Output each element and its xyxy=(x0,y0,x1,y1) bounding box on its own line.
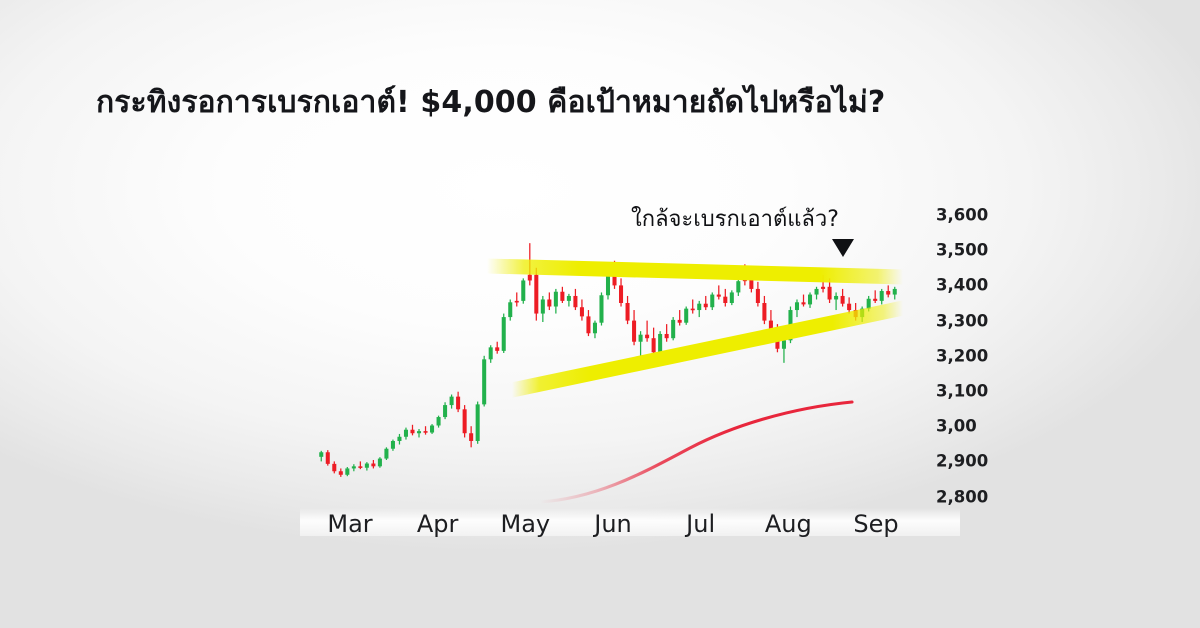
x-axis-tick-label: Jun xyxy=(594,510,632,538)
candlestick xyxy=(665,324,669,342)
candlestick xyxy=(456,392,460,412)
candlestick xyxy=(736,278,740,296)
candlestick xyxy=(482,356,486,407)
candlestick xyxy=(671,317,675,340)
x-axis-tick-label: Sep xyxy=(853,510,898,538)
y-axis-tick-label: 3,400 xyxy=(936,276,1022,295)
candlestick xyxy=(841,289,845,307)
candlestick xyxy=(554,289,558,314)
candlestick xyxy=(378,457,382,468)
candlestick xyxy=(410,425,414,436)
candlestick xyxy=(704,296,708,310)
candlestick xyxy=(834,292,838,310)
candlestick xyxy=(717,285,721,299)
candlestick xyxy=(541,296,545,322)
candlestick xyxy=(521,278,525,303)
candlestick xyxy=(430,424,434,434)
candlestick xyxy=(573,289,577,310)
candlestick xyxy=(815,287,819,300)
candlestick xyxy=(756,282,760,307)
candlestick xyxy=(652,328,656,356)
candlestick xyxy=(326,450,330,465)
candlestick xyxy=(515,292,519,306)
candlestick xyxy=(502,314,506,353)
candlestick xyxy=(371,460,375,468)
y-axis-tick-label: 2,800 xyxy=(936,487,1022,506)
y-axis-tick-label: 3,300 xyxy=(936,311,1022,330)
candlestick xyxy=(508,299,512,320)
candlestick xyxy=(632,310,636,345)
y-axis-tick-label: 3,600 xyxy=(936,206,1022,225)
candlestick xyxy=(339,468,343,476)
candlestick xyxy=(450,395,454,409)
candlestick xyxy=(365,462,369,470)
candlestick xyxy=(801,295,805,307)
candlestick xyxy=(404,428,408,440)
y-axis-tick-label: 3,500 xyxy=(936,241,1022,260)
candlestick xyxy=(391,440,395,451)
candlestick xyxy=(332,461,336,473)
y-axis-tick-label: 3,00 xyxy=(936,417,1022,436)
candlestick xyxy=(626,296,630,324)
candlestick xyxy=(489,345,493,363)
candlestick xyxy=(443,402,447,419)
candlestick xyxy=(547,292,551,310)
candlestick xyxy=(782,338,786,363)
candlestick xyxy=(762,296,766,324)
candlestick xyxy=(645,321,649,342)
candlestick xyxy=(599,292,603,325)
x-axis-tick-label: Jul xyxy=(686,510,715,538)
candlestick xyxy=(808,292,812,307)
candlestick xyxy=(417,429,421,437)
candlestick xyxy=(437,416,441,428)
candlestick xyxy=(893,287,897,300)
candlestick xyxy=(560,287,564,303)
down-triangle-icon xyxy=(832,239,854,257)
candlestick xyxy=(723,289,727,307)
candlestick xyxy=(847,297,851,313)
candlestick xyxy=(463,405,467,437)
x-axis-tick-label: Mar xyxy=(327,510,372,538)
candlestick xyxy=(319,451,323,462)
y-axis-tick-label: 2,900 xyxy=(936,452,1022,471)
x-axis-tick-label: Aug xyxy=(765,510,812,538)
x-axis-tick-label: Apr xyxy=(417,510,459,538)
candlestick xyxy=(593,321,597,339)
candlestick xyxy=(384,447,388,460)
candlestick xyxy=(873,290,877,303)
candlestick xyxy=(710,292,714,310)
lower-trendline xyxy=(512,308,903,390)
candlestick xyxy=(580,299,584,320)
candlestick xyxy=(678,310,682,325)
moving-average-line xyxy=(540,402,852,502)
candlestick xyxy=(886,285,890,297)
candlestick xyxy=(534,268,538,321)
candlestick xyxy=(567,294,571,307)
candlestick-chart: 3,6003,5003,4003,3003,2003,1003,002,9002… xyxy=(0,0,1200,628)
upper-trendline xyxy=(487,266,903,277)
candlestick xyxy=(684,307,688,325)
y-axis-tick-label: 3,200 xyxy=(936,346,1022,365)
chart-image: กระทิงรอการเบรกเอาต์! $4,000 คือเป้าหมาย… xyxy=(0,0,1200,628)
breakout-annotation-text: ใกล้จะเบรกเอาต์แล้ว? xyxy=(631,201,839,236)
candlestick xyxy=(730,290,734,305)
candlestick xyxy=(795,299,799,317)
candlestick xyxy=(469,426,473,447)
candlestick xyxy=(691,299,695,313)
candlestick xyxy=(476,402,480,444)
y-axis-tick-label: 3,100 xyxy=(936,382,1022,401)
candlestick xyxy=(697,301,701,317)
candlestick xyxy=(345,467,349,476)
candlestick xyxy=(880,289,884,304)
candlestick xyxy=(424,426,428,434)
x-axis-tick-label: May xyxy=(501,510,551,538)
candlestick xyxy=(619,278,623,306)
candlestick xyxy=(358,461,362,469)
candlestick xyxy=(397,434,401,445)
candlestick xyxy=(495,342,499,354)
candlestick xyxy=(586,310,590,336)
candlestick xyxy=(352,464,356,471)
